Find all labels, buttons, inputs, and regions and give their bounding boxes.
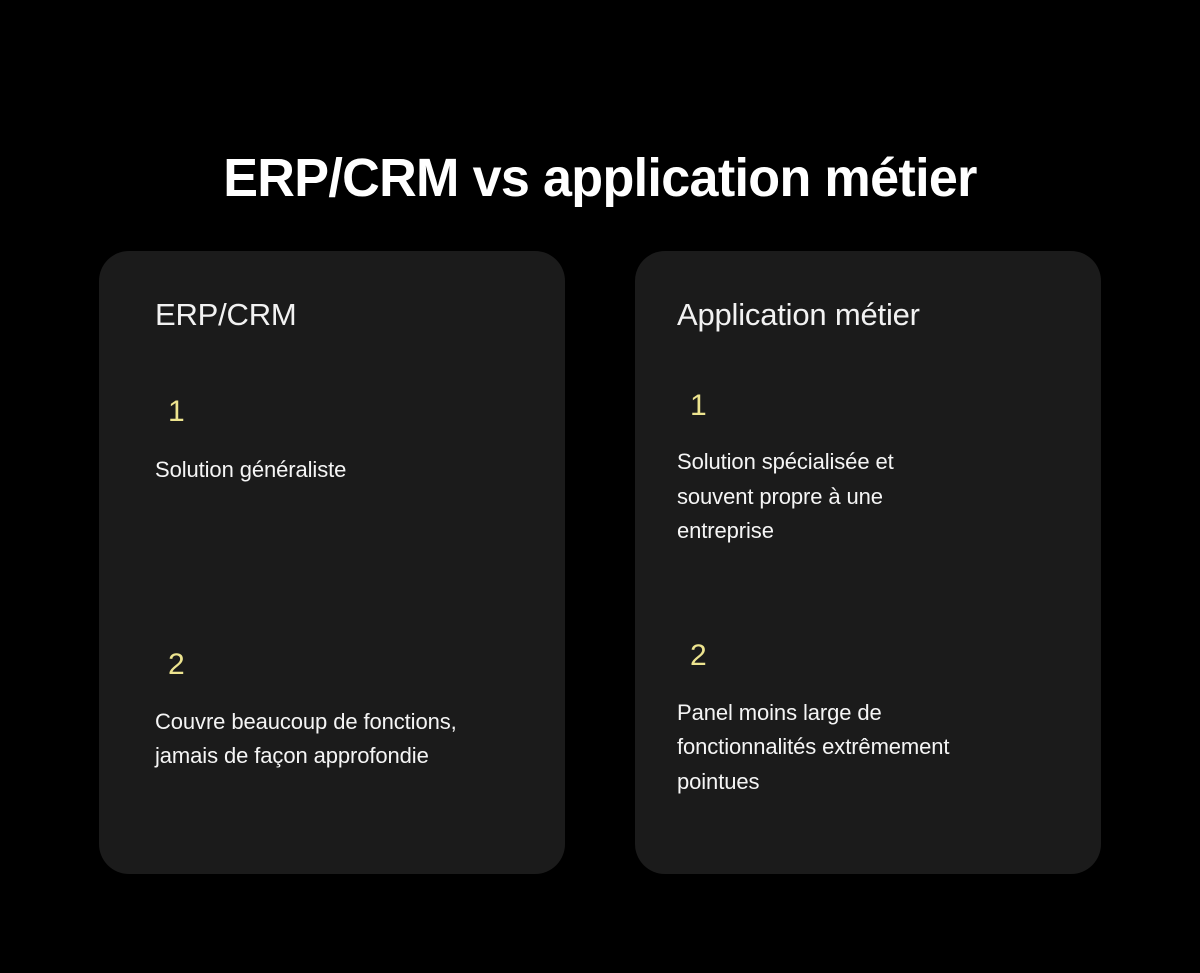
card-application-metier-content: Application métier 1 Solution spécialisé…: [635, 251, 1101, 874]
point-number-badge: 2: [677, 641, 1067, 671]
page-title: ERP/CRM vs application métier: [21, 148, 1179, 208]
list-item: 1 Solution spécialisée et souvent propre…: [677, 391, 1067, 549]
point-text: Solution spécialisée et souvent propre à…: [677, 445, 1067, 549]
card-application-metier: Application métier 1 Solution spécialisé…: [635, 251, 1101, 874]
point-number-badge: 2: [155, 650, 525, 680]
comparison-cards-row: ERP/CRM 1 Solution généraliste 2 Couvre …: [99, 251, 1101, 874]
point-text: Solution généraliste: [155, 453, 525, 488]
point-number-badge: 1: [155, 397, 525, 427]
point-text: Couvre beaucoup de fonctions, jamais de …: [155, 705, 525, 774]
card-erp-crm-points: 1 Solution généraliste 2 Couvre beaucoup…: [155, 397, 525, 774]
card-application-metier-heading: Application métier: [677, 296, 1067, 333]
list-item: 2 Couvre beaucoup de fonctions, jamais d…: [155, 650, 525, 774]
list-item: 2 Panel moins large de fonctionnalités e…: [677, 641, 1067, 800]
card-application-metier-points: 1 Solution spécialisée et souvent propre…: [677, 391, 1067, 799]
card-erp-crm-content: ERP/CRM 1 Solution généraliste 2 Couvre …: [99, 251, 565, 874]
card-erp-crm-heading: ERP/CRM: [155, 296, 525, 333]
card-erp-crm: ERP/CRM 1 Solution généraliste 2 Couvre …: [99, 251, 565, 874]
list-item: 1 Solution généraliste: [155, 397, 525, 488]
slide-root: ERP/CRM vs application métier ERP/CRM 1 …: [0, 0, 1200, 973]
point-number-badge: 1: [677, 391, 1067, 421]
point-text: Panel moins large de fonctionnalités ext…: [677, 696, 1067, 800]
